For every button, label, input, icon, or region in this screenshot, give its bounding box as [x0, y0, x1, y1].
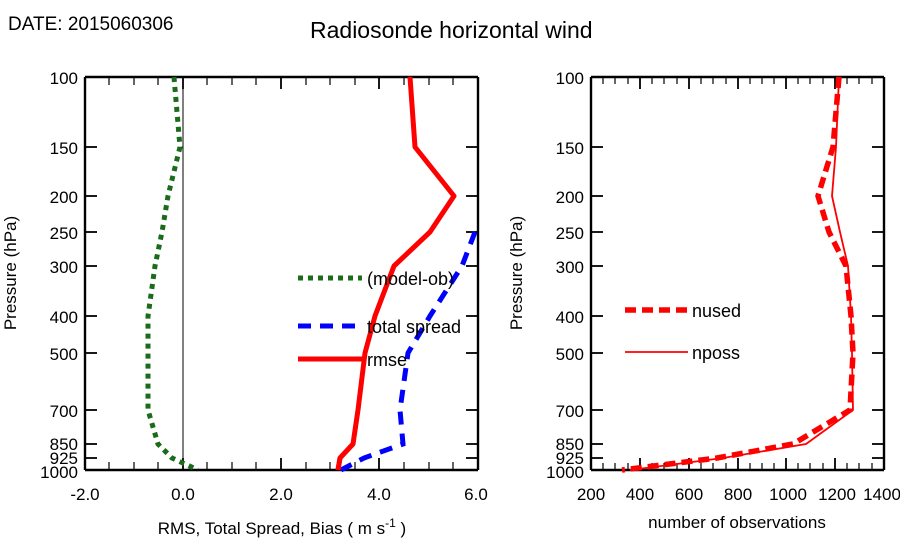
left-x-axis-title: RMS, Total Spread, Bias ( m s-1 ): [158, 516, 406, 538]
legend-label-total-spread: total spread: [367, 317, 461, 337]
right-ytick-4: 300: [556, 258, 584, 277]
left-ytick-5: 400: [50, 308, 78, 327]
left-xtick-0: -2.0: [70, 485, 99, 504]
left-ytick-4: 300: [50, 258, 78, 277]
left-panel: 100 150 200 250 300 400 500 700 850 925 …: [1, 69, 488, 538]
left-ytick-0: 100: [50, 69, 78, 88]
left-ytick-10: 1000: [40, 463, 78, 482]
right-panel: 100 150 200 250 300 400 500 700 850 925 …: [507, 69, 900, 532]
left-ytick-6: 500: [50, 345, 78, 364]
right-y-ticks: [591, 77, 884, 470]
right-x-axis-title: number of observations: [648, 513, 826, 532]
right-y-axis-title: Pressure (hPa): [507, 216, 526, 330]
right-ytick-1: 150: [556, 139, 584, 158]
right-ytick-10: 1000: [546, 463, 584, 482]
left-y-axis-title: Pressure (hPa): [1, 216, 20, 330]
right-xtick-0: 200: [577, 485, 605, 504]
left-xtick-1: 0.0: [171, 485, 195, 504]
right-xtick-1: 400: [626, 485, 654, 504]
right-y-tick-labels: 100 150 200 250 300 400 500 700 850 925 …: [546, 69, 584, 482]
right-ytick-3: 250: [556, 224, 584, 243]
right-xtick-5: 1200: [818, 485, 856, 504]
right-ytick-7: 700: [556, 402, 584, 421]
right-x-ticks: [591, 77, 884, 470]
right-panel-frame: [591, 77, 884, 470]
series-bias-model-ob: [148, 77, 198, 470]
left-ytick-3: 250: [50, 224, 78, 243]
left-panel-legend: (model-ob) total spread rmse: [298, 269, 461, 370]
left-xtick-3: 4.0: [367, 485, 391, 504]
right-xtick-3: 800: [724, 485, 752, 504]
right-xtick-2: 600: [675, 485, 703, 504]
right-ytick-6: 500: [556, 345, 584, 364]
right-ytick-2: 200: [556, 188, 584, 207]
legend-label-nused: nused: [692, 301, 741, 321]
right-xtick-4: 1000: [769, 485, 807, 504]
series-nused: [622, 77, 853, 470]
legend-label-rmse: rmse: [367, 350, 407, 370]
left-y-tick-labels: 100 150 200 250 300 400 500 700 850 925 …: [40, 69, 78, 482]
legend-label-nposs: nposs: [692, 343, 740, 363]
series-total-spread: [341, 232, 475, 470]
right-xtick-6: 1400: [863, 485, 900, 504]
plot-canvas: 100 150 200 250 300 400 500 700 850 925 …: [0, 0, 900, 560]
series-nposs: [630, 77, 853, 470]
right-ytick-5: 400: [556, 308, 584, 327]
legend-label-model-ob: (model-ob): [367, 269, 454, 289]
right-ytick-0: 100: [556, 69, 584, 88]
figure-root: DATE: 2015060306 Radiosonde horizontal w…: [0, 0, 900, 560]
left-ytick-7: 700: [50, 402, 78, 421]
left-xtick-2: 2.0: [269, 485, 293, 504]
left-ytick-2: 200: [50, 188, 78, 207]
left-ytick-1: 150: [50, 139, 78, 158]
left-x-tick-labels: -2.0 0.0 2.0 4.0 6.0: [70, 485, 487, 504]
series-rmse-tail: [338, 458, 340, 470]
right-x-tick-labels: 200 400 600 800 1000 1200 1400: [577, 485, 900, 504]
right-panel-legend: nused nposs: [625, 301, 741, 363]
left-xtick-4: 6.0: [464, 485, 488, 504]
